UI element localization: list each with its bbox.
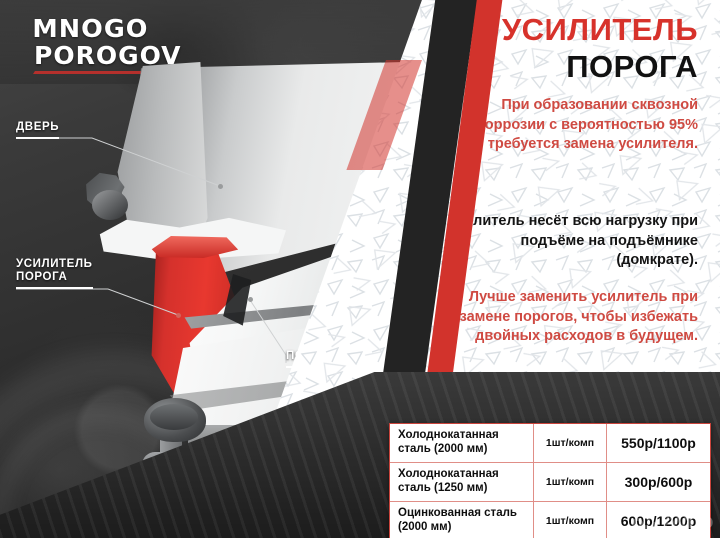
leader-dot-door (218, 184, 223, 189)
label-reinforcement: УСИЛИТЕЛЬ ПОРОГА (16, 258, 93, 289)
title-line-2: ПОРОГА (502, 51, 698, 82)
poster-title: УСИЛИТЕЛЬ ПОРОГА (502, 14, 698, 82)
title-line-1: УСИЛИТЕЛЬ (502, 14, 698, 45)
table-cell-name: Оцинкованная сталь (2000 мм) (390, 502, 533, 538)
table-cell-qty: 1шт/комп (533, 424, 606, 462)
leader-dot-reinforcement (176, 313, 181, 318)
table-cell-name: Холоднокатанная сталь (1250 мм) (390, 463, 533, 501)
label-door: ДВЕРЬ (16, 121, 59, 139)
table-row: Холоднокатанная сталь (2000 мм) 1шт/комп… (390, 424, 710, 463)
table-row: Холоднокатанная сталь (1250 мм) 1шт/комп… (390, 463, 710, 502)
price-table: Холоднокатанная сталь (2000 мм) 1шт/комп… (389, 423, 711, 538)
table-row: Оцинкованная сталь (2000 мм) 1шт/комп 60… (390, 502, 710, 538)
table-cell-qty: 1шт/комп (533, 463, 606, 501)
label-door-text: ДВЕРЬ (16, 121, 59, 133)
label-reinforcement-line1: УСИЛИТЕЛЬ (16, 258, 93, 270)
table-cell-price: 600р/1200р (606, 502, 710, 538)
table-cell-qty: 1шт/комп (533, 502, 606, 538)
label-door-rule (16, 137, 59, 139)
paragraph-corrosion: При образовании сквозной коррозии с веро… (458, 96, 698, 155)
paragraph-replacement: Лучше заменить усилитель при замене поро… (448, 288, 698, 347)
label-reinforcement-rule (16, 287, 93, 289)
paragraph-load: Усилитель несёт всю нагрузку при подъёме… (448, 212, 698, 271)
table-cell-price: 300р/600р (606, 463, 710, 501)
table-cell-name: Холоднокатанная сталь (2000 мм) (390, 424, 533, 462)
advertisement-poster: MNOGO POROGOV ДВЕРЬ (0, 0, 720, 538)
table-cell-price: 550р/1100р (606, 424, 710, 462)
leader-dot-sill (248, 297, 253, 302)
label-reinforcement-line2: ПОРОГА (16, 271, 67, 283)
